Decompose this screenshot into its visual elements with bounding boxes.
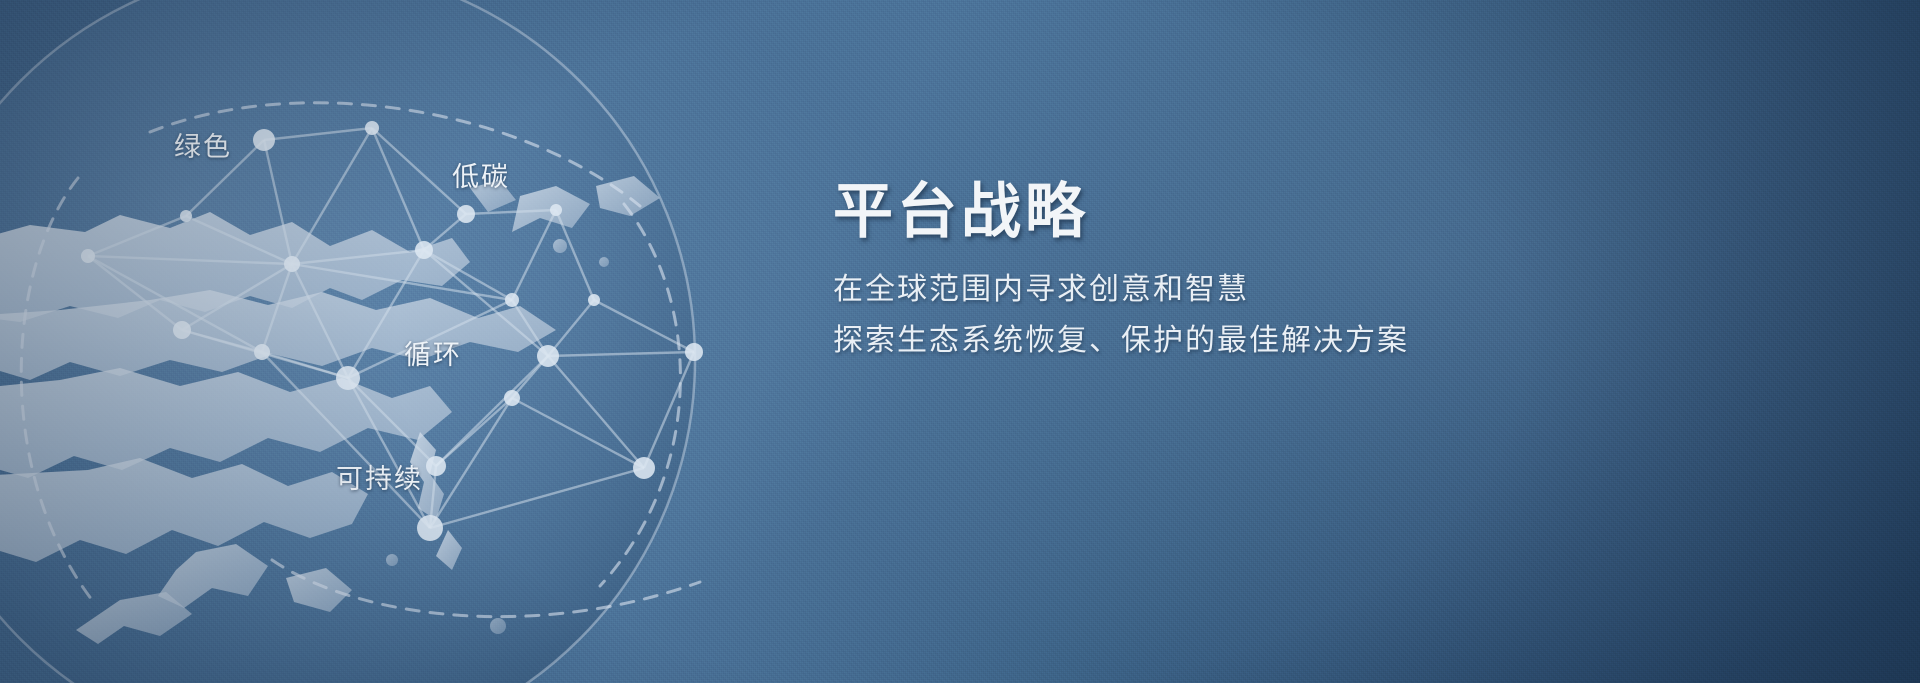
banner-subtitle-line-1: 在全球范围内寻求创意和智慧 (833, 269, 1593, 312)
banner-subtitle-line-2: 探索生态系统恢复、保护的最佳解决方案 (833, 320, 1593, 363)
banner-subtitle-list: 在全球范围内寻求创意和智慧 探索生态系统恢复、保护的最佳解决方案 (833, 269, 1593, 362)
globe-network-graphic: 绿色 低碳 循环 可持续 (0, 0, 880, 683)
network-label-low-carbon: 低碳 (452, 155, 510, 194)
network-label-circular: 循环 (404, 333, 462, 372)
network-label-sustainable: 可持续 (336, 457, 423, 496)
banner-text-block: 平台战略 在全球范围内寻求创意和智慧 探索生态系统恢复、保护的最佳解决方案 (833, 180, 1593, 370)
hero-banner: 绿色 低碳 循环 可持续 平台战略 在全球范围内寻求创意和智慧 探索生态系统恢复… (0, 0, 1920, 683)
network-label-green: 绿色 (174, 125, 232, 164)
banner-headline: 平台战略 (833, 180, 1593, 243)
